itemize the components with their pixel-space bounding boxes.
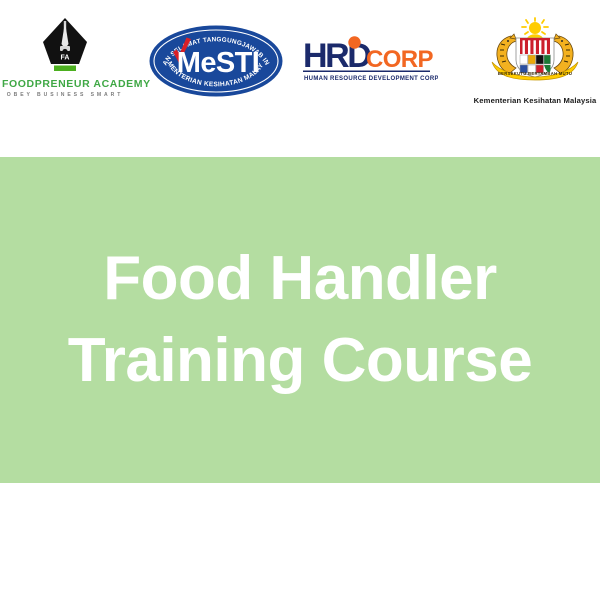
mesti-emblem-icon: MAKANAN SELAMAT TANGGUNGJAWAB INDUSTRI K…: [146, 22, 286, 100]
logo-foodpreneur-academy: FA FOODPRENEUR ACADEMY OBEY BUSINESS SMA…: [2, 18, 128, 98]
svg-text:BERSEKUTU BERTAMBAH MUTU: BERSEKUTU BERTAMBAH MUTU: [498, 71, 572, 76]
svg-text:HRD: HRD: [303, 37, 371, 75]
title-banner: Food Handler Training Course: [0, 157, 600, 483]
svg-text:CORP: CORP: [366, 46, 434, 73]
footer-whitespace: [0, 483, 600, 600]
logo-mesti: MAKANAN SELAMAT TANGGUNGJAWAB INDUSTRI K…: [146, 22, 286, 105]
course-title-line-2: Training Course: [68, 320, 532, 402]
logo-strip: FA FOODPRENEUR ACADEMY OBEY BUSINESS SMA…: [0, 0, 600, 157]
svg-text:HUMAN RESOURCE DEVELOPMENT COR: HUMAN RESOURCE DEVELOPMENT CORPORATION: [304, 76, 438, 82]
logo-foodpreneur-name: FOODPRENEUR ACADEMY: [2, 78, 128, 90]
hrd-corp-wordmark-icon: HRD CORP HUMAN RESOURCE DEVELOPMENT CORP…: [303, 35, 438, 83]
malaysia-coat-of-arms-icon: BERSEKUTU BERTAMBAH MUTU: [470, 16, 600, 88]
svg-text:FA: FA: [61, 55, 70, 62]
logo-kkm-caption: Kementerian Kesihatan Malaysia: [470, 96, 600, 105]
tiger-supporter-left: [497, 34, 518, 73]
pen-nib-icon: FA: [41, 18, 89, 76]
logo-hrd-corp: HRD CORP HUMAN RESOURCE DEVELOPMENT CORP…: [303, 35, 438, 88]
svg-text:MeSTI: MeSTI: [177, 47, 259, 79]
tiger-supporter-right: [552, 34, 573, 73]
course-title-line-1: Food Handler: [103, 238, 497, 320]
logo-kementerian-kesihatan-malaysia: BERSEKUTU BERTAMBAH MUTU Kementerian Kes…: [470, 16, 600, 105]
logo-foodpreneur-tagline: OBEY BUSINESS SMART: [2, 92, 128, 98]
